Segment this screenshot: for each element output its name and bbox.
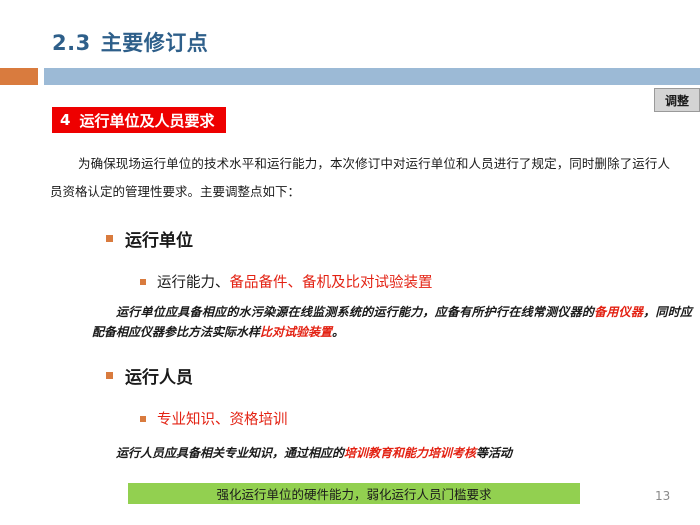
bullet-heading-label: 运行人员 — [125, 363, 193, 388]
bullet-sub-label-red: 备品备件、备机及比对试验装置 — [230, 271, 433, 292]
note-part-highlight: 比对试验装置 — [260, 325, 332, 339]
square-bullet-icon — [140, 416, 146, 422]
square-bullet-icon — [106, 372, 113, 379]
note-operating-unit: 运行单位应具备相应的水污染源在线监测系统的运行能力，应备有所护行在线常测仪器的备… — [92, 302, 692, 342]
summary-bar: 强化运行单位的硬件能力，弱化运行人员门槛要求 — [128, 483, 580, 504]
section-banner: 4 运行单位及人员要求 — [52, 107, 226, 133]
bullet-heading-label: 运行单位 — [125, 226, 193, 251]
note-operating-staff: 运行人员应具备相关专业知识，通过相应的培训教育和能力培训考核等活动 — [92, 443, 692, 463]
bullet-sub-operating-staff: 专业知识、资格培训 — [140, 408, 288, 429]
section-banner-label: 运行单位及人员要求 — [79, 110, 214, 131]
note-part: 运行人员应具备相关专业知识，通过相应的 — [116, 446, 344, 460]
page-number: 13 — [655, 489, 670, 503]
bullet-heading-operating-staff: 运行人员 — [106, 363, 193, 388]
bullet-heading-operating-unit: 运行单位 — [106, 226, 193, 251]
adjust-badge[interactable]: 调整 — [654, 88, 700, 112]
intro-paragraph: 为确保现场运行单位的技术水平和运行能力，本次修订中对运行单位和人员进行了规定，同… — [50, 150, 670, 206]
square-bullet-icon — [106, 235, 113, 242]
section-banner-number: 4 — [60, 111, 70, 129]
slide-canvas: 2.3主要修订点 调整 4 运行单位及人员要求 为确保现场运行单位的技术水平和运… — [0, 0, 700, 525]
square-bullet-icon — [140, 279, 146, 285]
page-title: 2.3主要修订点 — [52, 27, 208, 57]
header-rule-orange — [0, 68, 38, 85]
summary-bar-label: 强化运行单位的硬件能力，弱化运行人员门槛要求 — [216, 484, 491, 503]
header-rule-blue — [44, 68, 700, 85]
page-title-text: 主要修订点 — [101, 31, 209, 55]
page-title-number: 2.3 — [52, 31, 91, 55]
note-part-highlight: 备用仪器 — [594, 305, 643, 319]
bullet-sub-label-plain: 运行能力、 — [157, 271, 230, 292]
note-part: 。 — [332, 325, 344, 339]
note-part: 运行单位应具备相应的水污染源在线监测系统的运行能力，应备有所护行在线常测仪器的 — [116, 305, 594, 319]
note-part-highlight: 培训教育和能力培训考核 — [344, 446, 476, 460]
note-part: 等活动 — [476, 446, 512, 460]
adjust-badge-label: 调整 — [665, 92, 689, 109]
bullet-sub-operating-unit: 运行能力、备品备件、备机及比对试验装置 — [140, 271, 433, 292]
bullet-sub-label-red: 专业知识、资格培训 — [157, 408, 288, 429]
